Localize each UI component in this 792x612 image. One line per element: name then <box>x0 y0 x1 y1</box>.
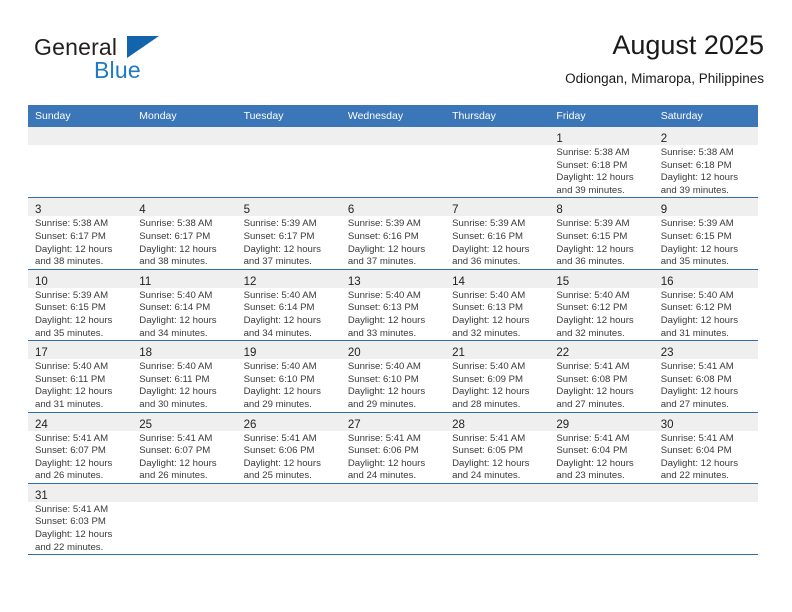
day-number-band: 28 <box>445 413 549 431</box>
day-number: 3 <box>35 204 41 216</box>
day-number-band: 1 <box>549 127 653 145</box>
calendar-week-row: 24Sunrise: 5:41 AMSunset: 6:07 PMDayligh… <box>28 412 758 483</box>
day-detail-line: Sunset: 6:15 PM <box>661 231 752 244</box>
day-number: 12 <box>244 276 257 288</box>
day-detail-line: Sunset: 6:18 PM <box>661 160 752 173</box>
day-detail-line: and 24 minutes. <box>452 470 543 483</box>
weekday-header-friday: Friday <box>549 105 653 127</box>
day-detail-line: Sunset: 6:05 PM <box>452 445 543 458</box>
day-detail-line: and 22 minutes. <box>661 470 752 483</box>
day-detail-line: Sunset: 6:07 PM <box>139 445 230 458</box>
table-bottom-rule <box>28 554 758 555</box>
day-number: 5 <box>244 204 250 216</box>
day-detail-line: and 28 minutes. <box>452 399 543 412</box>
day-detail-line: and 25 minutes. <box>244 470 335 483</box>
calendar-day-cell[interactable]: 28Sunrise: 5:41 AMSunset: 6:05 PMDayligh… <box>445 412 549 483</box>
day-detail-line: Daylight: 12 hours <box>35 458 126 471</box>
calendar-day-cell[interactable]: 6Sunrise: 5:39 AMSunset: 6:16 PMDaylight… <box>341 198 445 269</box>
weekday-header-tuesday: Tuesday <box>237 105 341 127</box>
day-number: 13 <box>348 276 361 288</box>
calendar-day-cell[interactable]: 17Sunrise: 5:40 AMSunset: 6:11 PMDayligh… <box>28 341 132 412</box>
weekday-header-thursday: Thursday <box>445 105 549 127</box>
calendar-day-cell[interactable]: 24Sunrise: 5:41 AMSunset: 6:07 PMDayligh… <box>28 412 132 483</box>
day-detail-line: and 31 minutes. <box>661 328 752 341</box>
calendar-day-cell[interactable]: 4Sunrise: 5:38 AMSunset: 6:17 PMDaylight… <box>132 198 236 269</box>
day-detail-text: Sunrise: 5:40 AMSunset: 6:12 PMDaylight:… <box>549 288 653 340</box>
day-detail-text: Sunrise: 5:39 AMSunset: 6:16 PMDaylight:… <box>445 216 549 268</box>
day-detail-line: and 24 minutes. <box>348 470 439 483</box>
day-detail-line: and 36 minutes. <box>556 256 647 269</box>
calendar-day-cell[interactable]: 15Sunrise: 5:40 AMSunset: 6:12 PMDayligh… <box>549 269 653 340</box>
calendar-empty-cell <box>445 483 549 554</box>
day-detail-line: Daylight: 12 hours <box>35 244 126 257</box>
day-detail-line: Sunrise: 5:38 AM <box>556 147 647 160</box>
day-detail-line: Sunset: 6:06 PM <box>244 445 335 458</box>
day-detail-line: and 35 minutes. <box>35 328 126 341</box>
day-detail-text: Sunrise: 5:41 AMSunset: 6:03 PMDaylight:… <box>28 502 132 554</box>
day-detail-text <box>445 145 549 147</box>
day-detail-line: Sunset: 6:17 PM <box>244 231 335 244</box>
calendar-empty-cell <box>341 127 445 198</box>
day-detail-line: Sunset: 6:15 PM <box>35 302 126 315</box>
day-detail-line: Sunset: 6:14 PM <box>244 302 335 315</box>
day-detail-line: Sunset: 6:17 PM <box>35 231 126 244</box>
calendar-day-cell[interactable]: 5Sunrise: 5:39 AMSunset: 6:17 PMDaylight… <box>237 198 341 269</box>
day-number: 24 <box>35 419 48 431</box>
day-detail-line: Daylight: 12 hours <box>661 172 752 185</box>
day-number: 4 <box>139 204 145 216</box>
day-number-band: 13 <box>341 270 445 288</box>
calendar-empty-cell <box>237 127 341 198</box>
day-number-band <box>237 127 341 145</box>
day-number-band: 24 <box>28 413 132 431</box>
calendar-empty-cell <box>28 127 132 198</box>
day-number-band: 6 <box>341 198 445 216</box>
day-detail-line: Daylight: 12 hours <box>661 458 752 471</box>
day-detail-line: Sunset: 6:06 PM <box>348 445 439 458</box>
day-detail-text: Sunrise: 5:39 AMSunset: 6:15 PMDaylight:… <box>28 288 132 340</box>
day-number-band: 11 <box>132 270 236 288</box>
calendar-week-row: 1Sunrise: 5:38 AMSunset: 6:18 PMDaylight… <box>28 127 758 198</box>
calendar-day-cell[interactable]: 22Sunrise: 5:41 AMSunset: 6:08 PMDayligh… <box>549 341 653 412</box>
day-detail-line: Daylight: 12 hours <box>139 386 230 399</box>
day-number: 28 <box>452 419 465 431</box>
day-number: 10 <box>35 276 48 288</box>
day-detail-line: Sunrise: 5:39 AM <box>452 218 543 231</box>
day-detail-text: Sunrise: 5:41 AMSunset: 6:08 PMDaylight:… <box>549 359 653 411</box>
day-number-band: 20 <box>341 341 445 359</box>
day-detail-line: Sunrise: 5:41 AM <box>452 433 543 446</box>
day-detail-line: Sunset: 6:11 PM <box>139 374 230 387</box>
day-detail-line: Daylight: 12 hours <box>35 315 126 328</box>
day-detail-line: Sunrise: 5:41 AM <box>661 433 752 446</box>
calendar-day-cell[interactable]: 31Sunrise: 5:41 AMSunset: 6:03 PMDayligh… <box>28 483 132 554</box>
day-detail-text <box>237 502 341 504</box>
day-detail-line: Daylight: 12 hours <box>348 315 439 328</box>
day-number-band <box>28 127 132 145</box>
calendar-day-cell[interactable]: 1Sunrise: 5:38 AMSunset: 6:18 PMDaylight… <box>549 127 653 198</box>
day-detail-line: Sunrise: 5:40 AM <box>452 361 543 374</box>
day-number: 16 <box>661 276 674 288</box>
day-number-band: 23 <box>654 341 758 359</box>
day-detail-line: Sunset: 6:17 PM <box>139 231 230 244</box>
day-detail-text: Sunrise: 5:41 AMSunset: 6:06 PMDaylight:… <box>237 431 341 483</box>
day-number-band <box>237 484 341 502</box>
day-number-band: 31 <box>28 484 132 502</box>
day-number: 6 <box>348 204 354 216</box>
day-detail-text <box>341 145 445 147</box>
day-number: 11 <box>139 276 151 288</box>
day-detail-text: Sunrise: 5:40 AMSunset: 6:14 PMDaylight:… <box>237 288 341 340</box>
day-detail-line: Sunrise: 5:38 AM <box>661 147 752 160</box>
day-detail-line: and 39 minutes. <box>661 185 752 198</box>
calendar-week-row: 3Sunrise: 5:38 AMSunset: 6:17 PMDaylight… <box>28 198 758 269</box>
page-header: General Blue August 2025 Odiongan, Mimar… <box>28 28 764 100</box>
day-detail-line: Sunset: 6:07 PM <box>35 445 126 458</box>
day-detail-text <box>549 502 653 504</box>
day-detail-line: Daylight: 12 hours <box>556 315 647 328</box>
day-detail-line: Sunrise: 5:40 AM <box>556 290 647 303</box>
day-detail-line: Sunrise: 5:39 AM <box>348 218 439 231</box>
day-number: 20 <box>348 347 361 359</box>
calendar-day-cell[interactable]: 16Sunrise: 5:40 AMSunset: 6:12 PMDayligh… <box>654 269 758 340</box>
calendar-day-cell[interactable]: 14Sunrise: 5:40 AMSunset: 6:13 PMDayligh… <box>445 269 549 340</box>
general-blue-logo[interactable]: General Blue <box>34 34 234 96</box>
day-number-band: 30 <box>654 413 758 431</box>
day-detail-line: Daylight: 12 hours <box>244 458 335 471</box>
day-detail-text: Sunrise: 5:41 AMSunset: 6:05 PMDaylight:… <box>445 431 549 483</box>
day-detail-text: Sunrise: 5:38 AMSunset: 6:18 PMDaylight:… <box>654 145 758 197</box>
day-number-band: 8 <box>549 198 653 216</box>
day-detail-line: Daylight: 12 hours <box>244 315 335 328</box>
day-number: 31 <box>35 490 48 502</box>
day-detail-line: Sunset: 6:13 PM <box>452 302 543 315</box>
day-detail-line: Daylight: 12 hours <box>661 386 752 399</box>
day-detail-text: Sunrise: 5:38 AMSunset: 6:17 PMDaylight:… <box>28 216 132 268</box>
day-detail-line: Sunrise: 5:41 AM <box>661 361 752 374</box>
day-detail-line: Daylight: 12 hours <box>35 386 126 399</box>
calendar-empty-cell <box>549 483 653 554</box>
day-detail-line: Sunrise: 5:38 AM <box>35 218 126 231</box>
day-detail-line: and 30 minutes. <box>139 399 230 412</box>
weekday-header-monday: Monday <box>132 105 236 127</box>
calendar-week-row: 17Sunrise: 5:40 AMSunset: 6:11 PMDayligh… <box>28 341 758 412</box>
day-detail-line: Sunrise: 5:40 AM <box>35 361 126 374</box>
day-detail-line: and 38 minutes. <box>139 256 230 269</box>
day-number-band <box>549 484 653 502</box>
day-detail-line: Sunrise: 5:41 AM <box>35 504 126 517</box>
day-detail-text: Sunrise: 5:41 AMSunset: 6:04 PMDaylight:… <box>654 431 758 483</box>
day-number: 7 <box>452 204 458 216</box>
day-number-band: 12 <box>237 270 341 288</box>
day-detail-line: Daylight: 12 hours <box>244 386 335 399</box>
calendar-day-cell[interactable]: 18Sunrise: 5:40 AMSunset: 6:11 PMDayligh… <box>132 341 236 412</box>
day-number-band: 25 <box>132 413 236 431</box>
day-detail-line: Sunset: 6:04 PM <box>556 445 647 458</box>
day-detail-line: Sunset: 6:14 PM <box>139 302 230 315</box>
day-detail-line: and 29 minutes. <box>348 399 439 412</box>
calendar-day-cell[interactable]: 8Sunrise: 5:39 AMSunset: 6:15 PMDaylight… <box>549 198 653 269</box>
day-number-band: 26 <box>237 413 341 431</box>
day-detail-line: Sunset: 6:16 PM <box>452 231 543 244</box>
day-detail-line: and 34 minutes. <box>139 328 230 341</box>
calendar-day-cell[interactable]: 2Sunrise: 5:38 AMSunset: 6:18 PMDaylight… <box>654 127 758 198</box>
day-detail-text: Sunrise: 5:39 AMSunset: 6:17 PMDaylight:… <box>237 216 341 268</box>
calendar-body: 1Sunrise: 5:38 AMSunset: 6:18 PMDaylight… <box>28 127 758 554</box>
calendar-day-cell[interactable]: 9Sunrise: 5:39 AMSunset: 6:15 PMDaylight… <box>654 198 758 269</box>
day-detail-line: Sunrise: 5:39 AM <box>556 218 647 231</box>
calendar-day-cell[interactable]: 10Sunrise: 5:39 AMSunset: 6:15 PMDayligh… <box>28 269 132 340</box>
day-detail-text <box>445 502 549 504</box>
day-detail-line: and 27 minutes. <box>661 399 752 412</box>
day-detail-line: Daylight: 12 hours <box>452 315 543 328</box>
day-number: 27 <box>348 419 361 431</box>
day-detail-line: and 37 minutes. <box>348 256 439 269</box>
calendar-week-row: 10Sunrise: 5:39 AMSunset: 6:15 PMDayligh… <box>28 269 758 340</box>
day-detail-line: Sunset: 6:04 PM <box>661 445 752 458</box>
day-detail-line: Sunset: 6:16 PM <box>348 231 439 244</box>
day-detail-text: Sunrise: 5:40 AMSunset: 6:09 PMDaylight:… <box>445 359 549 411</box>
day-detail-line: and 37 minutes. <box>244 256 335 269</box>
day-number-band: 19 <box>237 341 341 359</box>
day-detail-line: Sunset: 6:11 PM <box>35 374 126 387</box>
day-detail-line: Sunset: 6:18 PM <box>556 160 647 173</box>
day-detail-text: Sunrise: 5:40 AMSunset: 6:13 PMDaylight:… <box>341 288 445 340</box>
day-detail-text: Sunrise: 5:41 AMSunset: 6:07 PMDaylight:… <box>28 431 132 483</box>
day-number: 30 <box>661 419 674 431</box>
calendar-week-row: 31Sunrise: 5:41 AMSunset: 6:03 PMDayligh… <box>28 483 758 554</box>
day-detail-line: and 26 minutes. <box>35 470 126 483</box>
day-detail-line: Sunrise: 5:39 AM <box>35 290 126 303</box>
day-number-band: 18 <box>132 341 236 359</box>
day-number: 15 <box>556 276 569 288</box>
day-detail-line: Sunrise: 5:41 AM <box>35 433 126 446</box>
day-detail-line: Daylight: 12 hours <box>139 244 230 257</box>
day-detail-line: Daylight: 12 hours <box>244 244 335 257</box>
day-detail-line: Daylight: 12 hours <box>556 386 647 399</box>
day-detail-text <box>341 502 445 504</box>
day-detail-text: Sunrise: 5:40 AMSunset: 6:10 PMDaylight:… <box>237 359 341 411</box>
day-detail-line: Sunrise: 5:40 AM <box>139 290 230 303</box>
day-number: 18 <box>139 347 152 359</box>
day-detail-line: Sunrise: 5:40 AM <box>139 361 230 374</box>
calendar-day-cell[interactable]: 20Sunrise: 5:40 AMSunset: 6:10 PMDayligh… <box>341 341 445 412</box>
day-number-band: 4 <box>132 198 236 216</box>
day-detail-text <box>654 502 758 504</box>
day-number: 19 <box>244 347 257 359</box>
day-detail-line: Sunrise: 5:39 AM <box>661 218 752 231</box>
day-number-band: 10 <box>28 270 132 288</box>
calendar-day-cell[interactable]: 26Sunrise: 5:41 AMSunset: 6:06 PMDayligh… <box>237 412 341 483</box>
day-detail-line: Sunrise: 5:41 AM <box>244 433 335 446</box>
day-detail-line: Sunset: 6:12 PM <box>556 302 647 315</box>
day-number-band: 22 <box>549 341 653 359</box>
blue-flag-triangle-icon <box>127 36 159 58</box>
day-detail-line: and 36 minutes. <box>452 256 543 269</box>
day-number: 25 <box>139 419 152 431</box>
day-detail-text <box>132 502 236 504</box>
day-number-band <box>654 484 758 502</box>
day-detail-text: Sunrise: 5:41 AMSunset: 6:06 PMDaylight:… <box>341 431 445 483</box>
day-number-band: 9 <box>654 198 758 216</box>
day-detail-line: Daylight: 12 hours <box>556 172 647 185</box>
day-detail-text: Sunrise: 5:41 AMSunset: 6:07 PMDaylight:… <box>132 431 236 483</box>
day-detail-line: and 32 minutes. <box>556 328 647 341</box>
calendar-day-cell[interactable]: 12Sunrise: 5:40 AMSunset: 6:14 PMDayligh… <box>237 269 341 340</box>
page-title: August 2025 <box>565 28 764 62</box>
day-number-band: 5 <box>237 198 341 216</box>
day-detail-line: Sunset: 6:10 PM <box>244 374 335 387</box>
day-detail-line: Daylight: 12 hours <box>452 244 543 257</box>
day-detail-line: Daylight: 12 hours <box>556 458 647 471</box>
day-number: 2 <box>661 133 667 145</box>
day-number: 8 <box>556 204 562 216</box>
page-subtitle: Odiongan, Mimaropa, Philippines <box>565 70 764 88</box>
day-detail-line: Sunrise: 5:41 AM <box>556 361 647 374</box>
calendar-day-cell[interactable]: 29Sunrise: 5:41 AMSunset: 6:04 PMDayligh… <box>549 412 653 483</box>
day-number: 21 <box>452 347 465 359</box>
day-detail-text: Sunrise: 5:41 AMSunset: 6:08 PMDaylight:… <box>654 359 758 411</box>
day-detail-line: Sunrise: 5:40 AM <box>661 290 752 303</box>
day-number-band <box>341 484 445 502</box>
day-detail-line: Daylight: 12 hours <box>139 458 230 471</box>
weekday-header-row: Sunday Monday Tuesday Wednesday Thursday… <box>28 105 758 127</box>
calendar-day-cell[interactable]: 30Sunrise: 5:41 AMSunset: 6:04 PMDayligh… <box>654 412 758 483</box>
calendar-empty-cell <box>132 127 236 198</box>
day-number-band: 29 <box>549 413 653 431</box>
day-detail-line: Sunrise: 5:40 AM <box>244 361 335 374</box>
calendar-empty-cell <box>445 127 549 198</box>
day-detail-text: Sunrise: 5:39 AMSunset: 6:15 PMDaylight:… <box>549 216 653 268</box>
day-detail-line: Sunrise: 5:41 AM <box>556 433 647 446</box>
day-detail-line: and 32 minutes. <box>452 328 543 341</box>
calendar-day-cell[interactable]: 13Sunrise: 5:40 AMSunset: 6:13 PMDayligh… <box>341 269 445 340</box>
day-detail-line: Sunrise: 5:39 AM <box>244 218 335 231</box>
day-detail-line: and 22 minutes. <box>35 542 126 555</box>
day-detail-line: Daylight: 12 hours <box>35 529 126 542</box>
day-detail-line: Sunrise: 5:40 AM <box>348 290 439 303</box>
day-number-band <box>445 127 549 145</box>
day-detail-text: Sunrise: 5:38 AMSunset: 6:17 PMDaylight:… <box>132 216 236 268</box>
day-number-band <box>132 127 236 145</box>
day-number-band: 15 <box>549 270 653 288</box>
day-detail-line: Sunset: 6:03 PM <box>35 516 126 529</box>
day-detail-line: and 31 minutes. <box>35 399 126 412</box>
day-number-band <box>132 484 236 502</box>
day-detail-line: Daylight: 12 hours <box>348 458 439 471</box>
logo-text-blue: Blue <box>94 57 141 83</box>
day-number: 29 <box>556 419 569 431</box>
day-number-band: 27 <box>341 413 445 431</box>
calendar-day-cell[interactable]: 7Sunrise: 5:39 AMSunset: 6:16 PMDaylight… <box>445 198 549 269</box>
calendar-day-cell[interactable]: 23Sunrise: 5:41 AMSunset: 6:08 PMDayligh… <box>654 341 758 412</box>
day-number-band: 3 <box>28 198 132 216</box>
day-detail-text: Sunrise: 5:40 AMSunset: 6:11 PMDaylight:… <box>28 359 132 411</box>
day-detail-line: Sunset: 6:08 PM <box>556 374 647 387</box>
day-number: 14 <box>452 276 465 288</box>
day-detail-line: Sunrise: 5:38 AM <box>139 218 230 231</box>
day-detail-line: and 27 minutes. <box>556 399 647 412</box>
day-detail-line: Daylight: 12 hours <box>556 244 647 257</box>
day-detail-line: and 35 minutes. <box>661 256 752 269</box>
day-detail-text: Sunrise: 5:39 AMSunset: 6:16 PMDaylight:… <box>341 216 445 268</box>
calendar-day-cell[interactable]: 3Sunrise: 5:38 AMSunset: 6:17 PMDaylight… <box>28 198 132 269</box>
day-detail-line: and 29 minutes. <box>244 399 335 412</box>
day-detail-line: Daylight: 12 hours <box>452 386 543 399</box>
day-detail-line: Daylight: 12 hours <box>348 386 439 399</box>
weekday-header-sunday: Sunday <box>28 105 132 127</box>
day-number: 9 <box>661 204 667 216</box>
day-number: 22 <box>556 347 569 359</box>
day-detail-line: Daylight: 12 hours <box>661 315 752 328</box>
day-detail-text: Sunrise: 5:39 AMSunset: 6:15 PMDaylight:… <box>654 216 758 268</box>
title-block: August 2025 Odiongan, Mimaropa, Philippi… <box>565 28 764 88</box>
day-detail-text <box>237 145 341 147</box>
day-detail-text: Sunrise: 5:38 AMSunset: 6:18 PMDaylight:… <box>549 145 653 197</box>
day-detail-line: Sunrise: 5:40 AM <box>452 290 543 303</box>
day-detail-text: Sunrise: 5:40 AMSunset: 6:13 PMDaylight:… <box>445 288 549 340</box>
day-detail-line: Sunset: 6:12 PM <box>661 302 752 315</box>
day-number: 26 <box>244 419 257 431</box>
day-detail-text <box>28 145 132 147</box>
day-number-band: 7 <box>445 198 549 216</box>
day-detail-text: Sunrise: 5:40 AMSunset: 6:11 PMDaylight:… <box>132 359 236 411</box>
day-detail-text: Sunrise: 5:41 AMSunset: 6:04 PMDaylight:… <box>549 431 653 483</box>
day-detail-line: Sunrise: 5:41 AM <box>348 433 439 446</box>
day-detail-line: Sunset: 6:13 PM <box>348 302 439 315</box>
day-detail-line: Daylight: 12 hours <box>661 244 752 257</box>
day-detail-text <box>132 145 236 147</box>
day-detail-line: and 34 minutes. <box>244 328 335 341</box>
calendar-empty-cell <box>654 483 758 554</box>
calendar-day-cell[interactable]: 11Sunrise: 5:40 AMSunset: 6:14 PMDayligh… <box>132 269 236 340</box>
calendar-day-cell[interactable]: 25Sunrise: 5:41 AMSunset: 6:07 PMDayligh… <box>132 412 236 483</box>
day-detail-line: and 23 minutes. <box>556 470 647 483</box>
day-number-band: 16 <box>654 270 758 288</box>
day-detail-line: Daylight: 12 hours <box>348 244 439 257</box>
day-number: 23 <box>661 347 674 359</box>
day-detail-line: Sunrise: 5:40 AM <box>348 361 439 374</box>
day-detail-text: Sunrise: 5:40 AMSunset: 6:12 PMDaylight:… <box>654 288 758 340</box>
day-detail-line: Sunset: 6:09 PM <box>452 374 543 387</box>
day-detail-line: Sunset: 6:15 PM <box>556 231 647 244</box>
calendar-empty-cell <box>237 483 341 554</box>
day-number-band: 2 <box>654 127 758 145</box>
day-detail-line: and 26 minutes. <box>139 470 230 483</box>
day-detail-text: Sunrise: 5:40 AMSunset: 6:14 PMDaylight:… <box>132 288 236 340</box>
day-number: 1 <box>556 133 562 145</box>
weekday-header-saturday: Saturday <box>654 105 758 127</box>
calendar-day-cell[interactable]: 27Sunrise: 5:41 AMSunset: 6:06 PMDayligh… <box>341 412 445 483</box>
day-detail-line: Sunset: 6:10 PM <box>348 374 439 387</box>
day-detail-line: and 39 minutes. <box>556 185 647 198</box>
day-number-band: 14 <box>445 270 549 288</box>
calendar-day-cell[interactable]: 21Sunrise: 5:40 AMSunset: 6:09 PMDayligh… <box>445 341 549 412</box>
day-detail-line: Sunrise: 5:40 AM <box>244 290 335 303</box>
day-detail-line: Daylight: 12 hours <box>139 315 230 328</box>
day-detail-line: Sunrise: 5:41 AM <box>139 433 230 446</box>
day-detail-text: Sunrise: 5:40 AMSunset: 6:10 PMDaylight:… <box>341 359 445 411</box>
day-detail-line: and 38 minutes. <box>35 256 126 269</box>
day-detail-line: Daylight: 12 hours <box>452 458 543 471</box>
day-detail-line: and 33 minutes. <box>348 328 439 341</box>
calendar-empty-cell <box>341 483 445 554</box>
calendar-page: General Blue August 2025 Odiongan, Mimar… <box>0 0 792 612</box>
calendar-day-cell[interactable]: 19Sunrise: 5:40 AMSunset: 6:10 PMDayligh… <box>237 341 341 412</box>
calendar-table: Sunday Monday Tuesday Wednesday Thursday… <box>28 105 758 554</box>
calendar-empty-cell <box>132 483 236 554</box>
day-number-band <box>445 484 549 502</box>
